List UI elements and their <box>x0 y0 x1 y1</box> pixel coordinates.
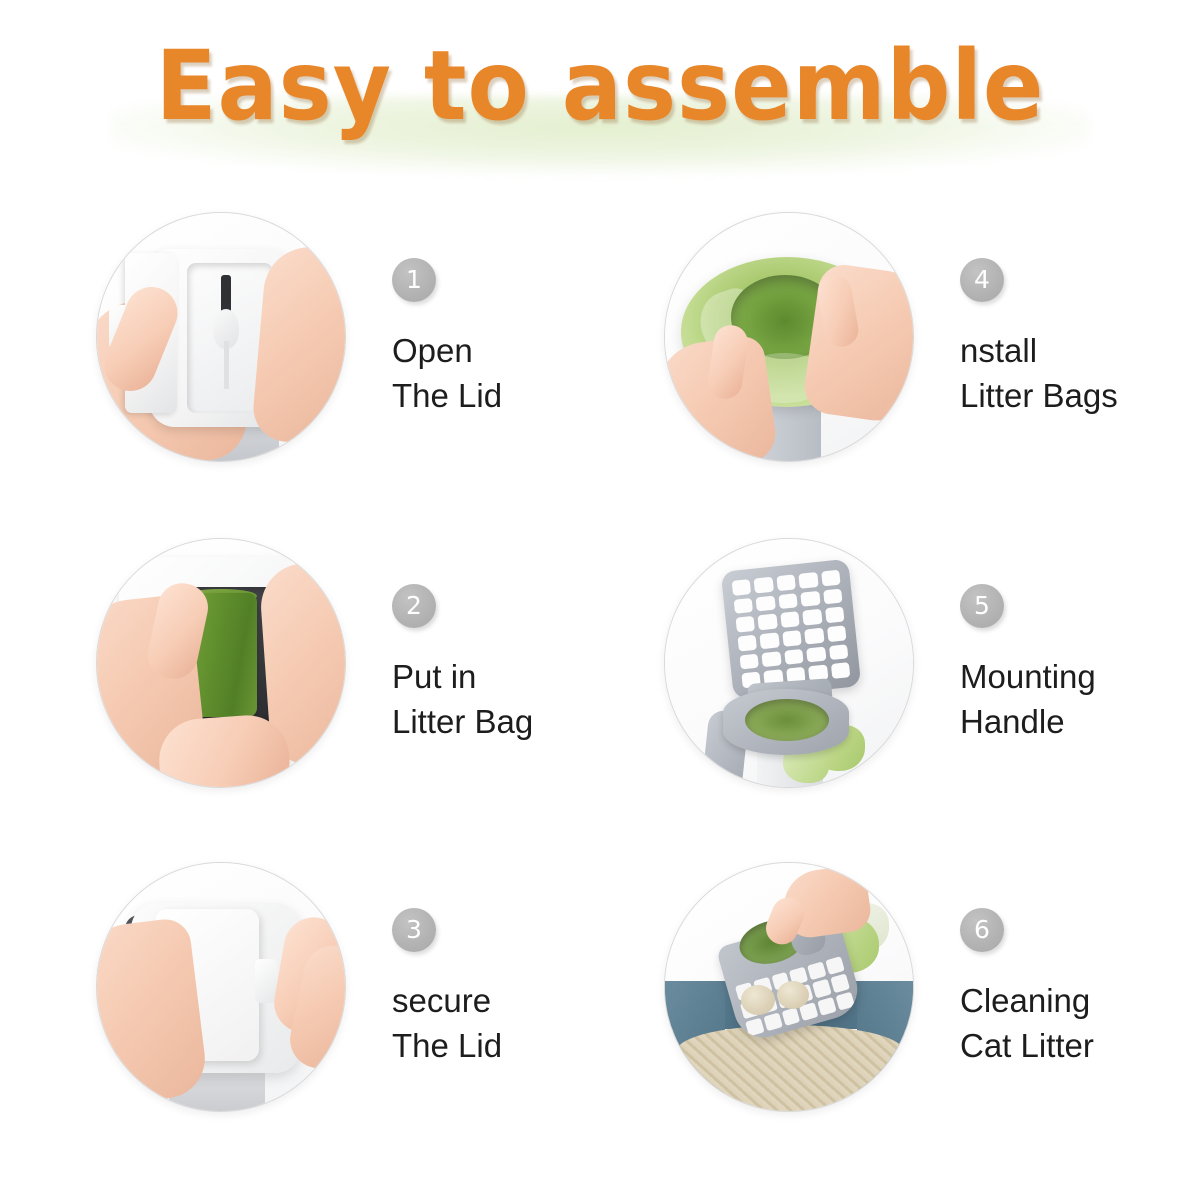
step-number-badge: 4 <box>960 258 1004 302</box>
step-item-3: 3 secure The Lid <box>0 846 600 1166</box>
step-caption-line2: The Lid <box>392 373 502 418</box>
step-caption-line1: Put in <box>392 654 533 699</box>
step-caption-line1: Mounting <box>960 654 1096 699</box>
step-2-caption: 2 Put in Litter Bag <box>392 584 533 744</box>
step-item-6: 6 Cleaning Cat Litter <box>568 846 1168 1166</box>
step-5-caption: 5 Mounting Handle <box>960 584 1096 744</box>
step-1-caption: 1 Open The Lid <box>392 258 502 418</box>
scene-install-litter-bags <box>665 213 913 461</box>
header: Easy to assemble <box>0 0 1200 185</box>
step-caption-line2: Litter Bags <box>960 373 1118 418</box>
step-caption-line1: nstall <box>960 328 1118 373</box>
page-title: Easy to assemble <box>42 38 1158 134</box>
step-4-caption: 4 nstall Litter Bags <box>960 258 1118 418</box>
step-number-badge: 3 <box>392 908 436 952</box>
step-6-caption: 6 Cleaning Cat Litter <box>960 908 1094 1068</box>
step-caption-line1: secure <box>392 978 502 1023</box>
scene-secure-the-lid <box>97 863 345 1111</box>
step-item-1: 1 Open The Lid <box>0 196 600 516</box>
step-4-photo <box>664 212 914 462</box>
scene-put-in-litter-bag <box>97 539 345 787</box>
step-item-2: 2 Put in Litter Bag <box>0 522 600 842</box>
step-caption-line2: Cat Litter <box>960 1023 1094 1068</box>
step-2-photo <box>96 538 346 788</box>
step-number-badge: 6 <box>960 908 1004 952</box>
step-3-photo <box>96 862 346 1112</box>
step-number-badge: 5 <box>960 584 1004 628</box>
step-5-photo <box>664 538 914 788</box>
steps-grid: 1 Open The Lid 4 nstall Lit <box>0 196 1200 1200</box>
step-caption-line1: Open <box>392 328 502 373</box>
step-item-5: 5 Mounting Handle <box>568 522 1168 842</box>
step-3-caption: 3 secure The Lid <box>392 908 502 1068</box>
step-number-badge: 2 <box>392 584 436 628</box>
step-1-photo <box>96 212 346 462</box>
scene-open-the-lid <box>97 213 345 461</box>
scene-mounting-handle <box>665 539 913 787</box>
step-6-photo <box>664 862 914 1112</box>
step-number-badge: 1 <box>392 258 436 302</box>
step-caption-line2: Litter Bag <box>392 699 533 744</box>
step-caption-line1: Cleaning <box>960 978 1094 1023</box>
step-item-4: 4 nstall Litter Bags <box>568 196 1168 516</box>
step-caption-line2: Handle <box>960 699 1096 744</box>
step-caption-line2: The Lid <box>392 1023 502 1068</box>
scene-cleaning-cat-litter <box>665 863 913 1111</box>
